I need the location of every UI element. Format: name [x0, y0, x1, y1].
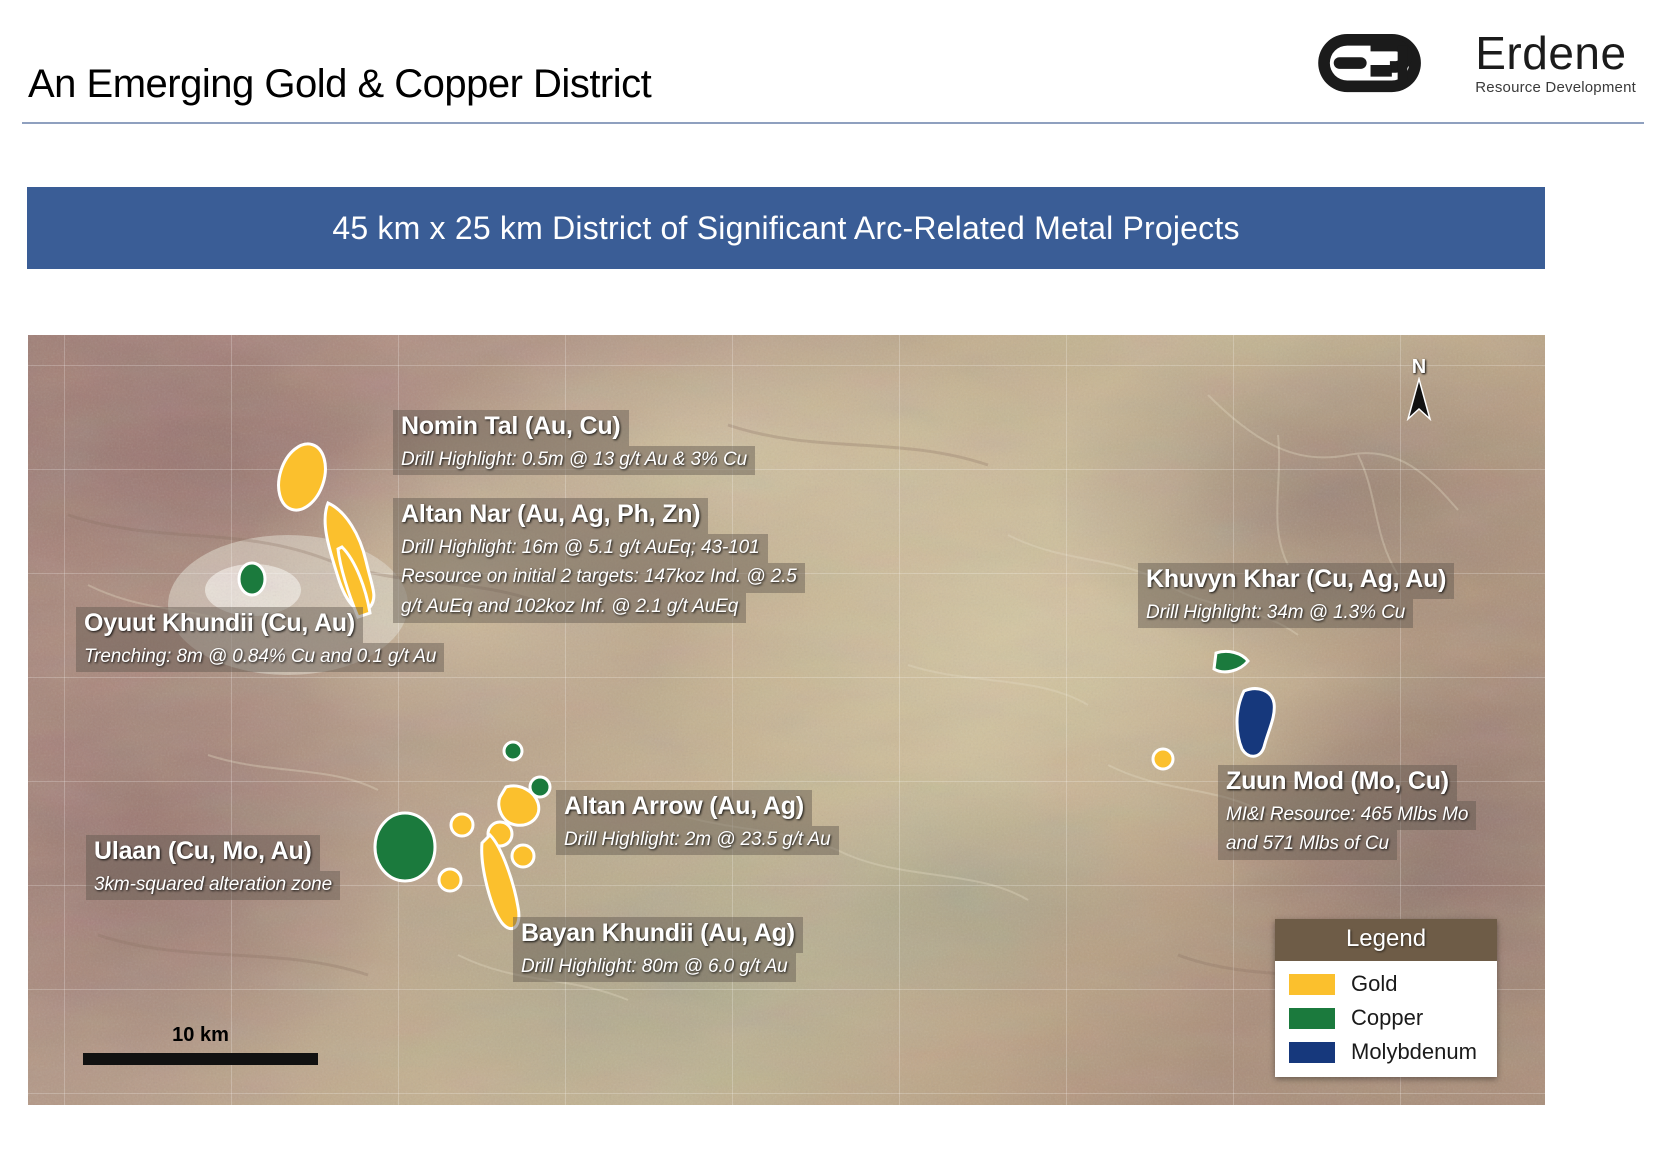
map-label-oyuut-khundii: Oyuut Khundii (Cu, Au) Trenching: 8m @ 0…	[76, 607, 444, 672]
map-label-bayan-khundii: Bayan Khundii (Au, Ag) Drill Highlight: …	[513, 917, 803, 982]
scale-bar-line	[83, 1053, 318, 1065]
legend-swatch-gold	[1289, 974, 1335, 995]
legend-item-gold: Gold	[1289, 971, 1483, 997]
ore-gold-altan-arrow-4	[512, 845, 534, 867]
slide-header: An Emerging Gold & Copper District Erden…	[0, 0, 1666, 130]
logo-name: Erdene	[1475, 30, 1636, 76]
ore-gold-zuun-mod	[1153, 749, 1173, 769]
ore-moly-zuun-mod	[1237, 689, 1274, 757]
label-title: Ulaan (Cu, Mo, Au)	[86, 835, 320, 871]
label-title: Khuvyn Khar (Cu, Ag, Au)	[1138, 563, 1454, 599]
label-line: MI&I Resource: 465 Mlbs Mo	[1218, 801, 1476, 831]
label-line: Drill Highlight: 2m @ 23.5 g/t Au	[556, 826, 839, 856]
ore-copper-altan-arrow-north	[504, 742, 522, 760]
legend-item-molybdenum: Molybdenum	[1289, 1039, 1483, 1065]
ore-gold-nomin-tal	[271, 438, 334, 516]
ore-gold-bayan-khundii-2	[439, 869, 461, 891]
scale-label: 10 km	[83, 1024, 318, 1047]
ore-gold-altan-arrow-2	[451, 814, 473, 836]
legend-label: Copper	[1351, 1005, 1423, 1031]
ore-copper-oyuut-khundii	[239, 563, 265, 595]
label-title: Zuun Mod (Mo, Cu)	[1218, 765, 1457, 801]
legend-title: Legend	[1275, 919, 1497, 961]
legend-swatch-copper	[1289, 1008, 1335, 1029]
ore-copper-altan-arrow	[530, 777, 550, 797]
label-line: Drill Highlight: 16m @ 5.1 g/t AuEq; 43-…	[393, 534, 768, 564]
label-title: Nomin Tal (Au, Cu)	[393, 410, 629, 446]
north-arrow-icon	[1406, 377, 1432, 421]
label-title: Altan Nar (Au, Ag, Ph, Zn)	[393, 498, 708, 534]
map-legend: Legend Gold Copper Molybdenum	[1275, 919, 1497, 1077]
title-divider	[22, 122, 1644, 124]
north-label: N	[1401, 357, 1437, 377]
label-line: Resource on initial 2 targets: 147koz In…	[393, 563, 805, 593]
north-arrow: N	[1401, 357, 1437, 426]
label-line: Drill Highlight: 0.5m @ 13 g/t Au & 3% C…	[393, 446, 755, 476]
map-label-altan-arrow: Altan Arrow (Au, Ag) Drill Highlight: 2m…	[556, 790, 839, 855]
page-title: An Emerging Gold & Copper District	[28, 62, 651, 107]
scale-bar: 10 km	[83, 1024, 318, 1065]
label-title: Bayan Khundii (Au, Ag)	[513, 917, 803, 953]
ore-copper-khuvyn-khar	[1214, 651, 1248, 671]
logo-tagline: Resource Development	[1475, 80, 1636, 95]
label-title: Oyuut Khundii (Cu, Au)	[76, 607, 363, 643]
label-line: 3km-squared alteration zone	[86, 871, 340, 901]
label-line: Drill Highlight: 34m @ 1.3% Cu	[1138, 599, 1413, 629]
legend-label: Molybdenum	[1351, 1039, 1477, 1065]
district-map: N Nomin Tal (Au, Cu) Drill Highlight: 0.…	[28, 335, 1545, 1105]
banner-text: 45 km x 25 km District of Significant Ar…	[332, 210, 1239, 247]
map-label-altan-nar: Altan Nar (Au, Ag, Ph, Zn) Drill Highlig…	[393, 498, 805, 623]
label-line: Trenching: 8m @ 0.84% Cu and 0.1 g/t Au	[76, 643, 444, 673]
legend-items: Gold Copper Molybdenum	[1275, 961, 1497, 1077]
legend-swatch-molybdenum	[1289, 1042, 1335, 1063]
label-line: g/t AuEq and 102koz Inf. @ 2.1 g/t AuEq	[393, 593, 746, 623]
erd-monogram-icon	[1313, 32, 1461, 94]
map-label-ulaan: Ulaan (Cu, Mo, Au) 3km-squared alteratio…	[86, 835, 340, 900]
brand-logo: Erdene Resource Development	[1313, 30, 1636, 95]
map-label-zuun-mod: Zuun Mod (Mo, Cu) MI&I Resource: 465 Mlb…	[1218, 765, 1476, 860]
map-label-nomin-tal: Nomin Tal (Au, Cu) Drill Highlight: 0.5m…	[393, 410, 755, 475]
label-title: Altan Arrow (Au, Ag)	[556, 790, 812, 826]
section-banner: 45 km x 25 km District of Significant Ar…	[27, 187, 1545, 269]
ore-copper-ulaan	[375, 813, 435, 881]
legend-item-copper: Copper	[1289, 1005, 1483, 1031]
legend-label: Gold	[1351, 971, 1397, 997]
label-line: and 571 Mlbs of Cu	[1218, 830, 1397, 860]
label-line: Drill Highlight: 80m @ 6.0 g/t Au	[513, 953, 796, 983]
map-label-khuvyn-khar: Khuvyn Khar (Cu, Ag, Au) Drill Highlight…	[1138, 563, 1454, 628]
